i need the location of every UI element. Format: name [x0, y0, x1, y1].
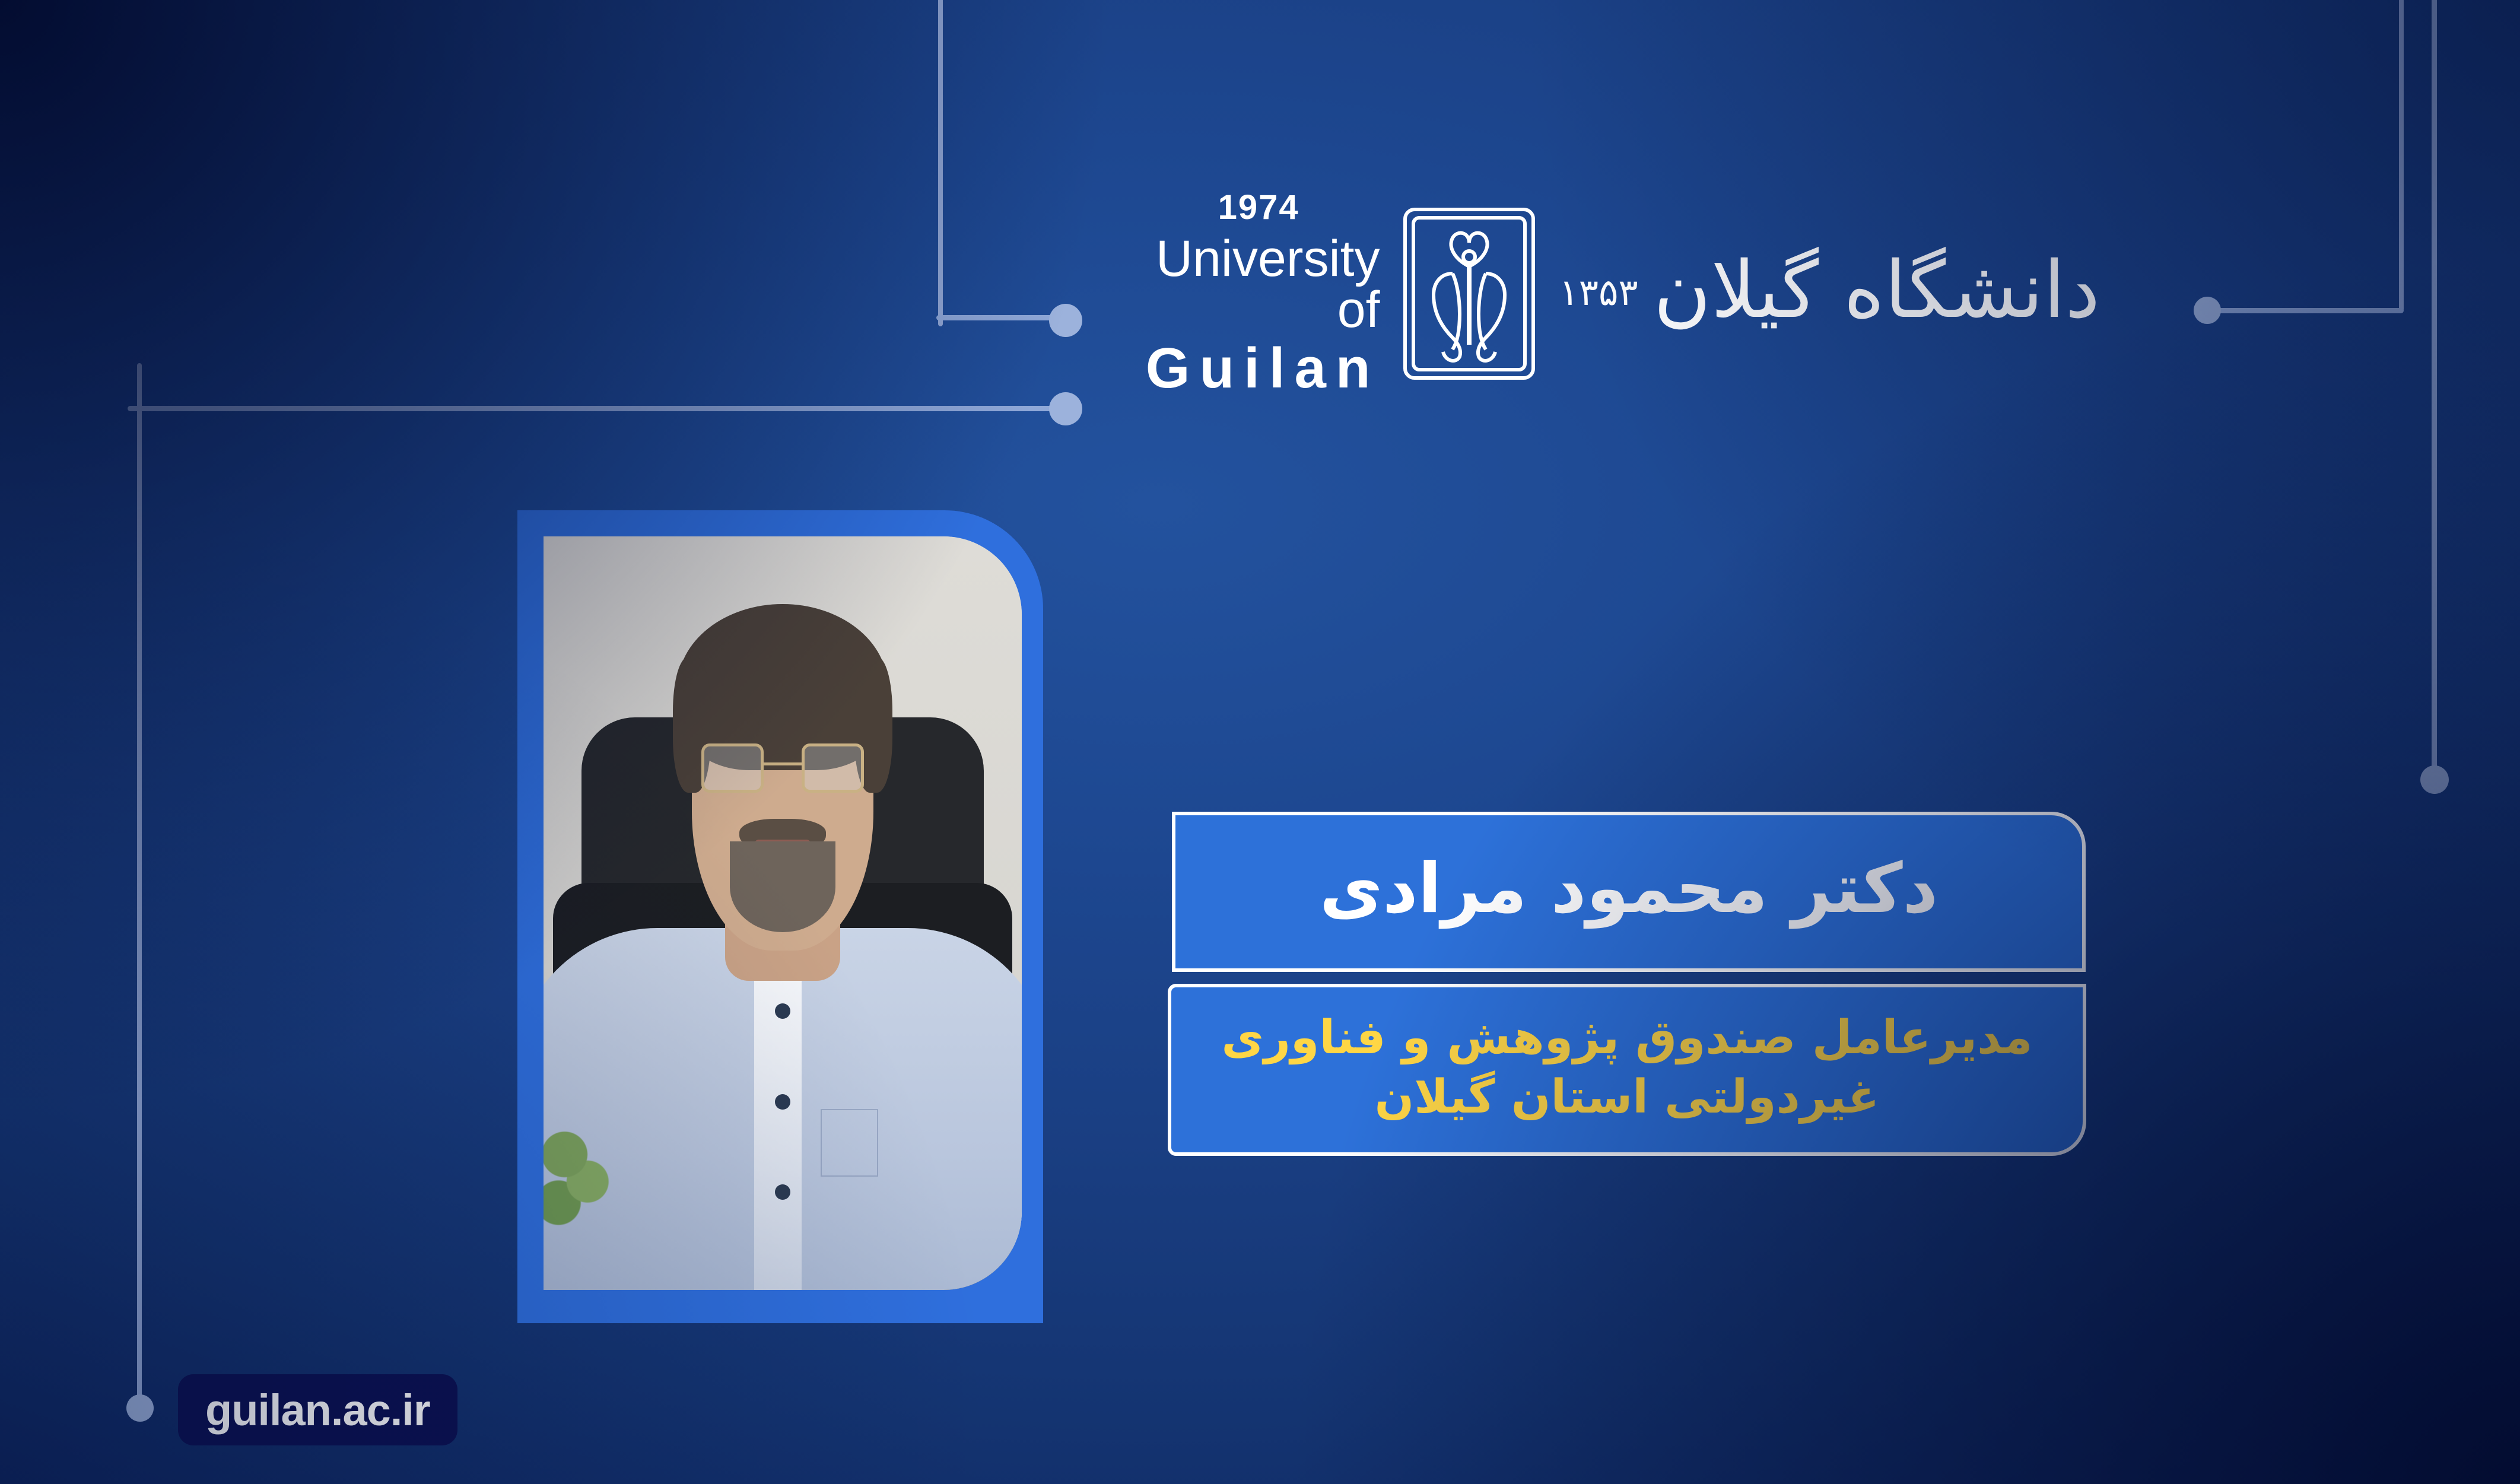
decor-line-horizontal-right: [2199, 308, 2404, 313]
logo-guilan: Guilan: [1146, 340, 1380, 397]
person-name-banner: دکتر محمود مرادی: [1172, 812, 2086, 972]
person-name-text: دکتر محمود مرادی: [1320, 851, 1938, 933]
decor-dot-lower: [1049, 392, 1082, 425]
portrait-eyebrow-right: [806, 721, 859, 726]
portrait-beard: [730, 841, 835, 932]
portrait-plant: [544, 1094, 611, 1245]
portrait-eyeglass-right: [802, 743, 864, 793]
logo-year-latin: 1974: [1146, 190, 1380, 225]
decor-line-vertical-left: [137, 363, 142, 1410]
decor-dot-upper: [1049, 304, 1082, 337]
portrait-eyeglass-left: [701, 743, 764, 793]
portrait-eyeglass-bridge: [764, 762, 802, 765]
decor-line-vertical-right-inner: [2399, 0, 2404, 312]
decor-dot-right-bottom: [2420, 765, 2449, 794]
decor-line-horizontal-lower: [128, 406, 1068, 411]
portrait-shirt-button: [775, 1184, 790, 1200]
portrait-eyebrow-left: [706, 721, 759, 726]
decor-line-vertical-right-outer: [2432, 0, 2437, 777]
portrait-photo: [544, 536, 1022, 1290]
person-role-line-2: غیردولتی استان گیلان: [1375, 1070, 1880, 1124]
person-role-banner: مدیرعامل صندوق پژوهش و فناوری غیردولتی ا…: [1168, 984, 2086, 1156]
person-role-text: مدیرعامل صندوق پژوهش و فناوری غیردولتی ا…: [1198, 1009, 2057, 1131]
portrait-shirt-pocket: [821, 1109, 878, 1177]
logo-english-text: 1974 University of Guilan: [1146, 190, 1380, 397]
logo-university-of: University of: [1146, 233, 1380, 335]
logo-persian-name: دانشگاه گیلان: [1654, 251, 2100, 329]
website-url-badge[interactable]: guilan.ac.ir: [178, 1374, 457, 1445]
portrait-frame: [517, 510, 1043, 1323]
website-url-text: guilan.ac.ir: [205, 1385, 430, 1435]
logo-year-persian: ۱۳۵۳: [1559, 271, 1638, 314]
guilan-university-emblem-icon: [1395, 205, 1543, 383]
university-logo: 1974 University of Guilan ۱۳۵۳ دانشگاه گ…: [1160, 196, 2086, 392]
decor-line-horizontal-upper: [936, 315, 1066, 320]
decor-dot-right: [2194, 297, 2221, 324]
decor-line-vertical-top-center: [938, 0, 943, 326]
decor-dot-left-bottom: [126, 1394, 154, 1422]
portrait-shirt-button: [775, 1094, 790, 1110]
poster-canvas: 1974 University of Guilan ۱۳۵۳ دانشگاه گ…: [0, 0, 2520, 1484]
person-role-line-1: مدیرعامل صندوق پژوهش و فناوری: [1222, 1011, 2033, 1064]
